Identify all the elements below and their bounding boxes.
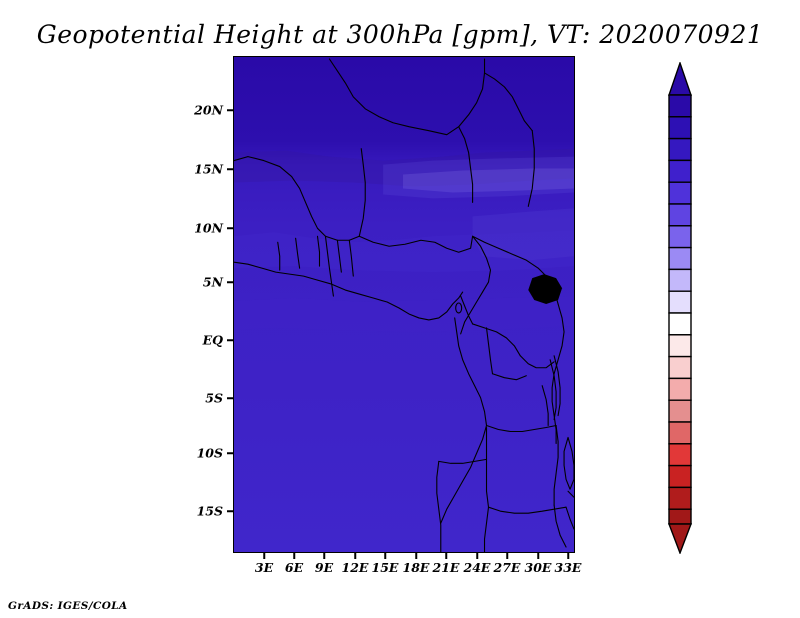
x-tick-label-21E: 21E [433,560,460,575]
x-tick-label-9E: 9E [315,560,333,575]
colorbar-band-group [669,95,691,524]
y-tick-mark [227,339,233,341]
x-tick-label-24E: 24E [464,560,491,575]
colorbar-swatches [668,62,692,554]
x-tick-mark [354,553,356,559]
x-tick-label-27E: 27E [494,560,521,575]
x-tick-mark [506,553,508,559]
colorbar-arrow-top [669,63,691,95]
x-tick-mark [445,553,447,559]
colorbar: 9760 9720 9680 9640 9600 9560 9520 9480 … [668,62,692,554]
contour-bands [234,149,574,332]
colorbar-arrow-bottom [669,524,691,553]
x-tick-mark [567,553,569,559]
y-tick-mark [227,227,233,229]
x-tick-label-33E: 33E [555,560,582,575]
chart-root: Geopotential Height at 300hPa [gpm], VT:… [0,0,800,618]
y-tick-mark [227,281,233,283]
x-tick-label-12E: 12E [342,560,369,575]
x-tick-mark [384,553,386,559]
page-title: Geopotential Height at 300hPa [gpm], VT:… [0,20,800,49]
y-tick-label-15S: 15S [175,504,223,519]
y-tick-mark [227,397,233,399]
x-tick-mark [293,553,295,559]
geopotential-height-map [234,57,574,552]
y-tick-mark [227,109,233,111]
y-tick-mark [227,452,233,454]
x-tick-label-3E: 3E [255,560,273,575]
map-plot-area [233,56,575,553]
x-tick-label-30E: 30E [525,560,552,575]
y-tick-label-20N: 20N [175,103,223,118]
y-tick-label-EQ: EQ [175,333,223,348]
y-tick-label-5N: 5N [175,275,223,290]
x-tick-label-15E: 15E [372,560,399,575]
y-tick-label-15N: 15N [175,162,223,177]
y-tick-label-10N: 10N [175,221,223,236]
y-tick-label-10S: 10S [175,446,223,461]
x-tick-label-6E: 6E [285,560,303,575]
y-tick-label-5S: 5S [175,391,223,406]
x-tick-mark [323,553,325,559]
x-tick-mark [263,553,265,559]
y-tick-mark [227,510,233,512]
x-tick-label-18E: 18E [403,560,430,575]
x-tick-mark [415,553,417,559]
x-tick-mark [537,553,539,559]
x-tick-mark [476,553,478,559]
y-tick-mark [227,168,233,170]
attribution-text: GrADS: IGES/COLA [8,600,128,612]
